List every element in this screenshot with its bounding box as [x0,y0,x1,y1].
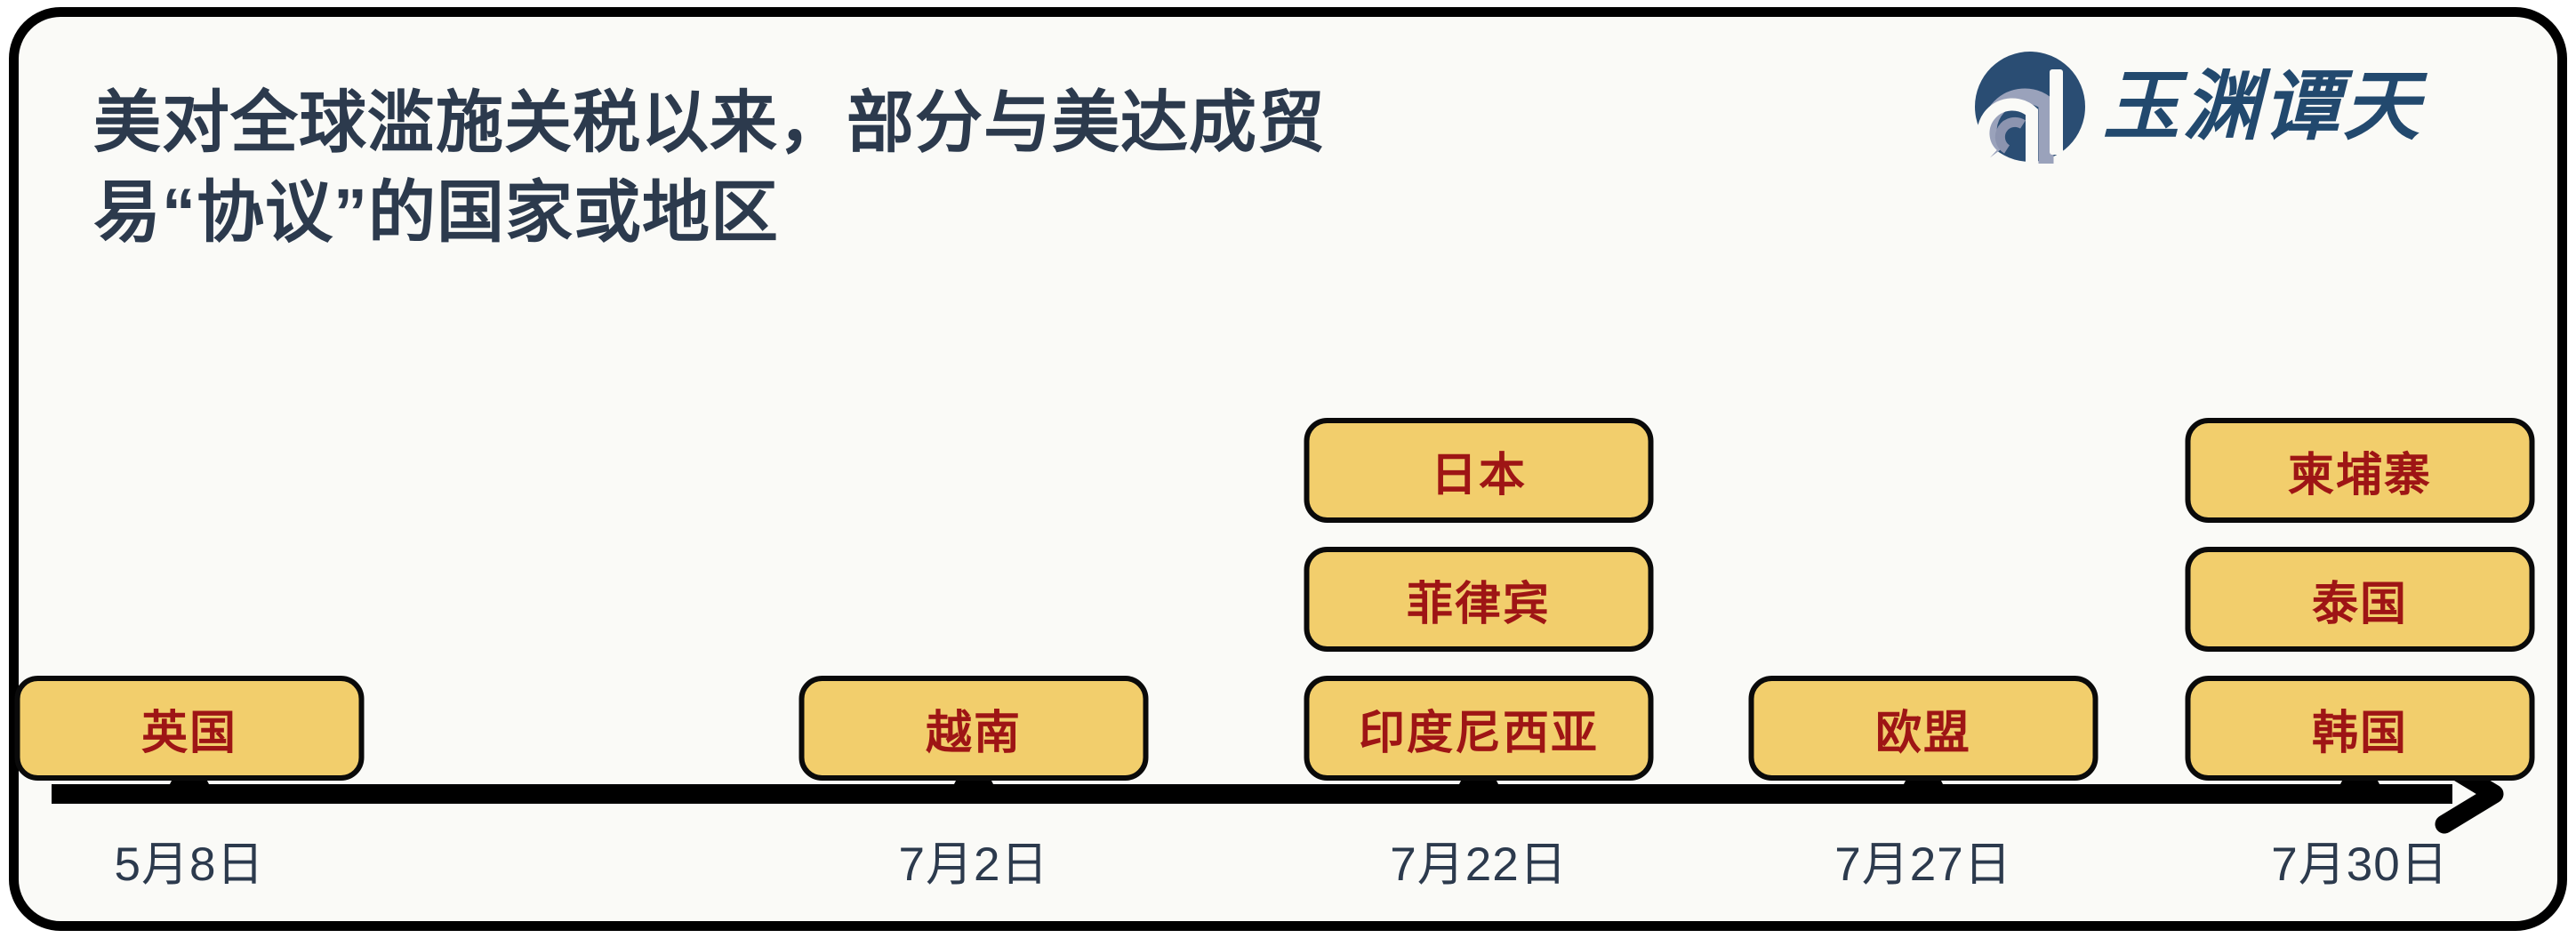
country-pill[interactable]: 英国 [15,676,365,781]
country-pill[interactable]: 印度尼西亚 [1304,676,1654,781]
timeline: 5月8日 7月2日 7月22日 7月27日 7月30日 英国 越南 印度尼西亚 … [0,0,2576,938]
timeline-column: 越南 [799,676,1149,781]
timeline-column: 韩国 泰国 柬埔寨 [2186,418,2535,781]
timeline-column: 英国 [15,676,365,781]
timeline-column: 印度尼西亚 菲律宾 日本 [1304,418,1654,781]
country-pill[interactable]: 柬埔寨 [2186,418,2535,523]
country-pill[interactable]: 韩国 [2186,676,2535,781]
timeline-date-label: 7月2日 [899,827,1049,894]
country-pill[interactable]: 欧盟 [1749,676,2099,781]
country-pill[interactable]: 泰国 [2186,547,2535,652]
country-pill[interactable]: 菲律宾 [1304,547,1654,652]
timeline-column: 欧盟 [1749,676,2099,781]
timeline-date-label: 7月30日 [2271,827,2448,894]
country-pill[interactable]: 日本 [1304,418,1654,523]
timeline-axis-line [52,784,2452,804]
timeline-date-label: 5月8日 [115,827,265,894]
timeline-date-label: 7月22日 [1390,827,1567,894]
infographic-root: 美对全球滥施关税以来，部分与美达成贸 易“协议”的国家或地区 玉渊谭天 [0,0,2576,938]
timeline-date-label: 7月27日 [1834,827,2011,894]
country-pill[interactable]: 越南 [799,676,1149,781]
